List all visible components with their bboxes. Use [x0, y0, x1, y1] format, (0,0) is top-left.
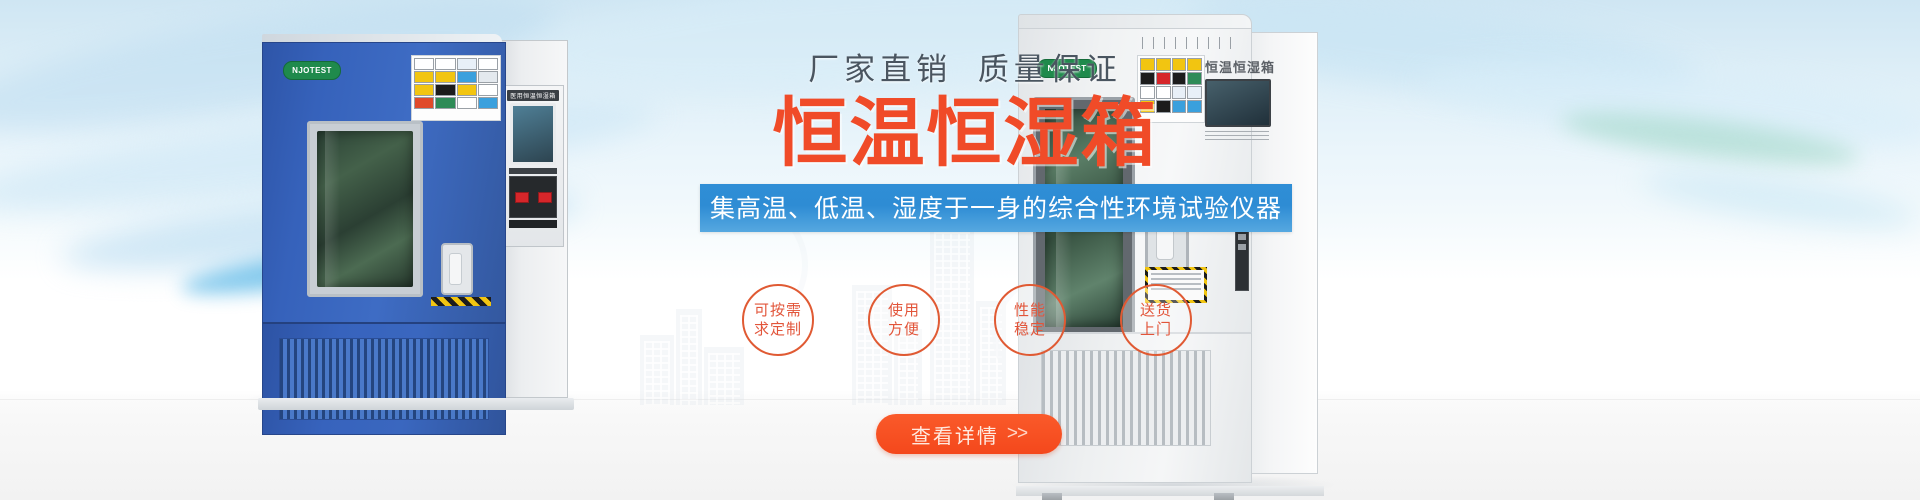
panel-button-box — [509, 176, 557, 218]
chevron-right-icon: >> — [1007, 423, 1027, 445]
indicator-led — [515, 192, 529, 203]
feature-line-1: 性能 — [1014, 301, 1046, 320]
feature-circles: 可按需 求定制 使用 方便 性能 稳定 送货 上门 — [742, 284, 1192, 356]
viewing-window — [307, 121, 423, 297]
product-image-left-chamber: 医用恒温恒湿箱 NJOTEST — [262, 34, 568, 402]
machine-base — [258, 398, 574, 410]
indicator-led — [538, 192, 552, 203]
feature-line-1: 可按需 — [754, 301, 802, 320]
machine-foot — [1214, 493, 1234, 500]
machine-foot — [1042, 493, 1062, 500]
cta-label: 查看详情 — [911, 420, 999, 449]
feature-line-2: 上门 — [1140, 320, 1172, 339]
promo-banner: 医用恒温恒湿箱 NJOTEST — [0, 0, 1920, 500]
feature-line-2: 方便 — [888, 320, 920, 339]
feature-circle-delivery[interactable]: 送货 上门 — [1120, 284, 1192, 356]
tagline-part-1: 厂家直销 — [808, 52, 952, 87]
warning-label-sheet — [411, 55, 501, 121]
machine-side-panel: 医用恒温恒湿箱 — [497, 40, 568, 398]
feature-line-1: 使用 — [888, 301, 920, 320]
main-title: 恒温恒湿箱 — [700, 93, 1230, 174]
control-panel: 医用恒温恒湿箱 — [502, 85, 564, 247]
panel-title: 医用恒温恒湿箱 — [507, 90, 559, 101]
hazard-stripe — [431, 297, 491, 306]
feature-circle-stable[interactable]: 性能 稳定 — [994, 284, 1066, 356]
panel-strip — [509, 168, 557, 174]
feature-line-1: 送货 — [1140, 301, 1172, 320]
banner-text-block: 厂家直销 质量保证 恒温恒湿箱 集高温、低温、湿度于一身的综合性环境试验仪器 — [700, 44, 1230, 232]
machine-lower-cabinet — [262, 322, 506, 435]
feature-circle-easy-use[interactable]: 使用 方便 — [868, 284, 940, 356]
subtitle-bar: 集高温、低温、湿度于一身的综合性环境试验仪器 — [700, 184, 1292, 232]
door-handle — [441, 243, 473, 295]
feature-line-2: 稳定 — [1014, 320, 1046, 339]
feature-circle-custom[interactable]: 可按需 求定制 — [742, 284, 814, 356]
window-glass — [317, 131, 413, 287]
tagline-part-2: 质量保证 — [978, 52, 1122, 87]
ventilation-grille — [1041, 350, 1211, 446]
brand-logo: NJOTEST — [283, 61, 341, 80]
machine-main-body: NJOTEST — [262, 42, 506, 324]
tagline: 厂家直销 质量保证 — [700, 44, 1230, 89]
machine-base — [1016, 486, 1324, 496]
panel-footer-label — [509, 220, 557, 228]
feature-line-2: 求定制 — [754, 320, 802, 339]
panel-screen — [510, 103, 556, 165]
view-details-button[interactable]: 查看详情 >> — [876, 414, 1062, 454]
